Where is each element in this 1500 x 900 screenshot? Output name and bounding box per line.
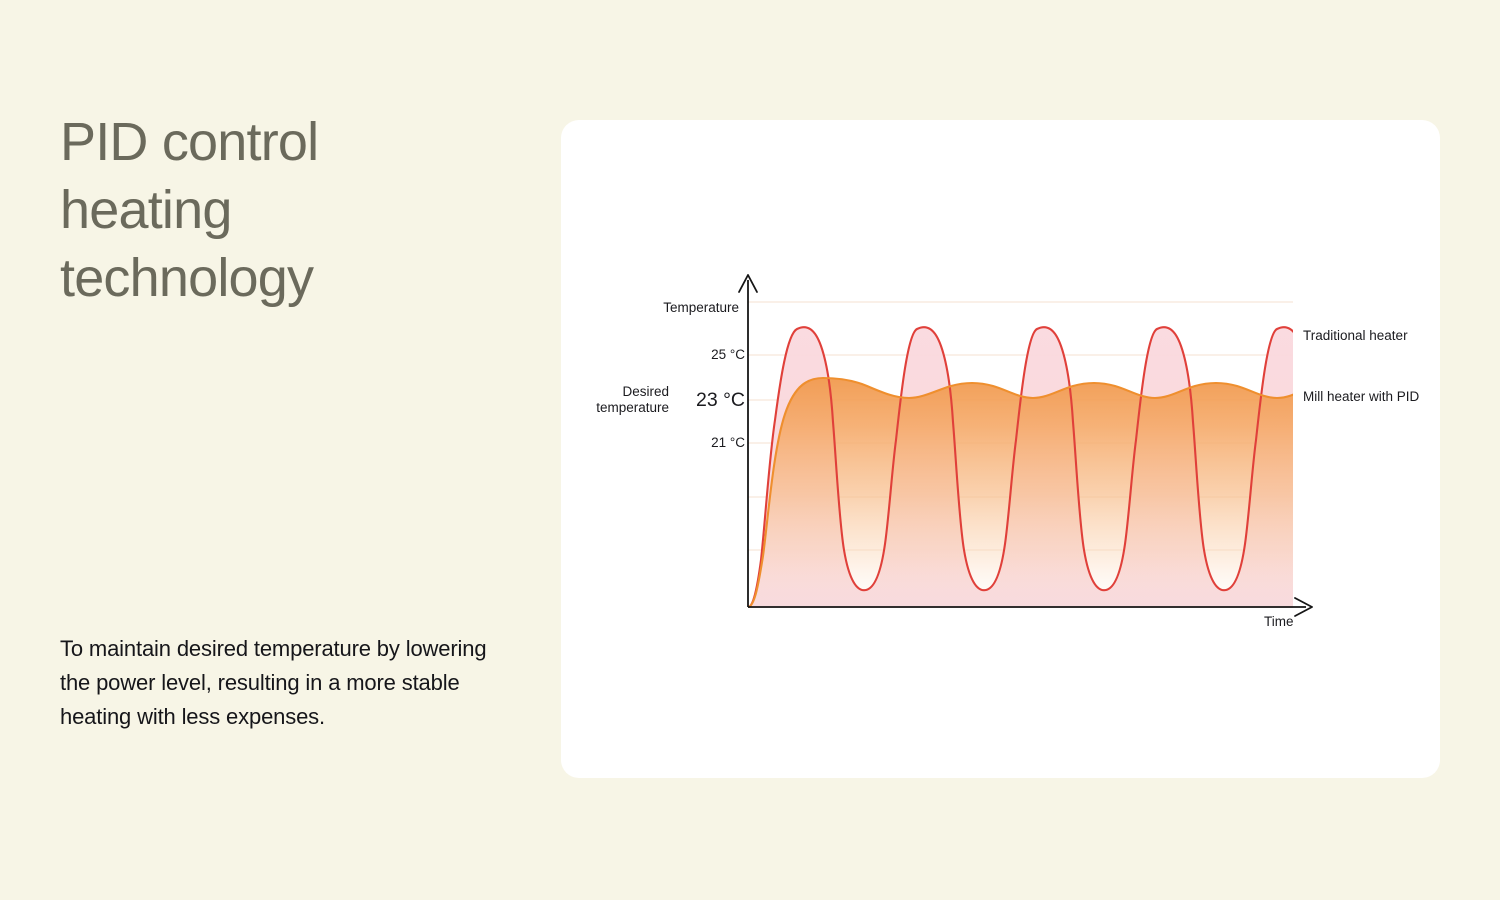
text-column: PID control heating technology To mainta… <box>60 0 530 900</box>
x-axis-title: Time <box>1264 614 1294 630</box>
desired-temperature-value: 23 °C <box>671 388 745 412</box>
legend-label-mill-heater-pid: Mill heater with PID <box>1303 389 1419 405</box>
legend-label-traditional-heater: Traditional heater <box>1303 328 1408 344</box>
chart-card: Temperature Time 25 °C Desired temperatu… <box>561 120 1440 778</box>
y-tick-label-21: 21 °C <box>675 435 745 451</box>
y-tick-label-25: 25 °C <box>675 347 745 363</box>
pid-heater-area <box>748 378 1301 620</box>
page-description: To maintain desired temperature by lower… <box>60 632 492 734</box>
desired-temperature-caption: Desired temperature <box>585 384 669 416</box>
chart-stage: Temperature Time 25 °C Desired temperatu… <box>561 120 1440 778</box>
y-axis-title: Temperature <box>659 300 739 316</box>
slide-root: PID control heating technology To mainta… <box>0 0 1500 900</box>
page-title: PID control heating technology <box>60 108 480 312</box>
